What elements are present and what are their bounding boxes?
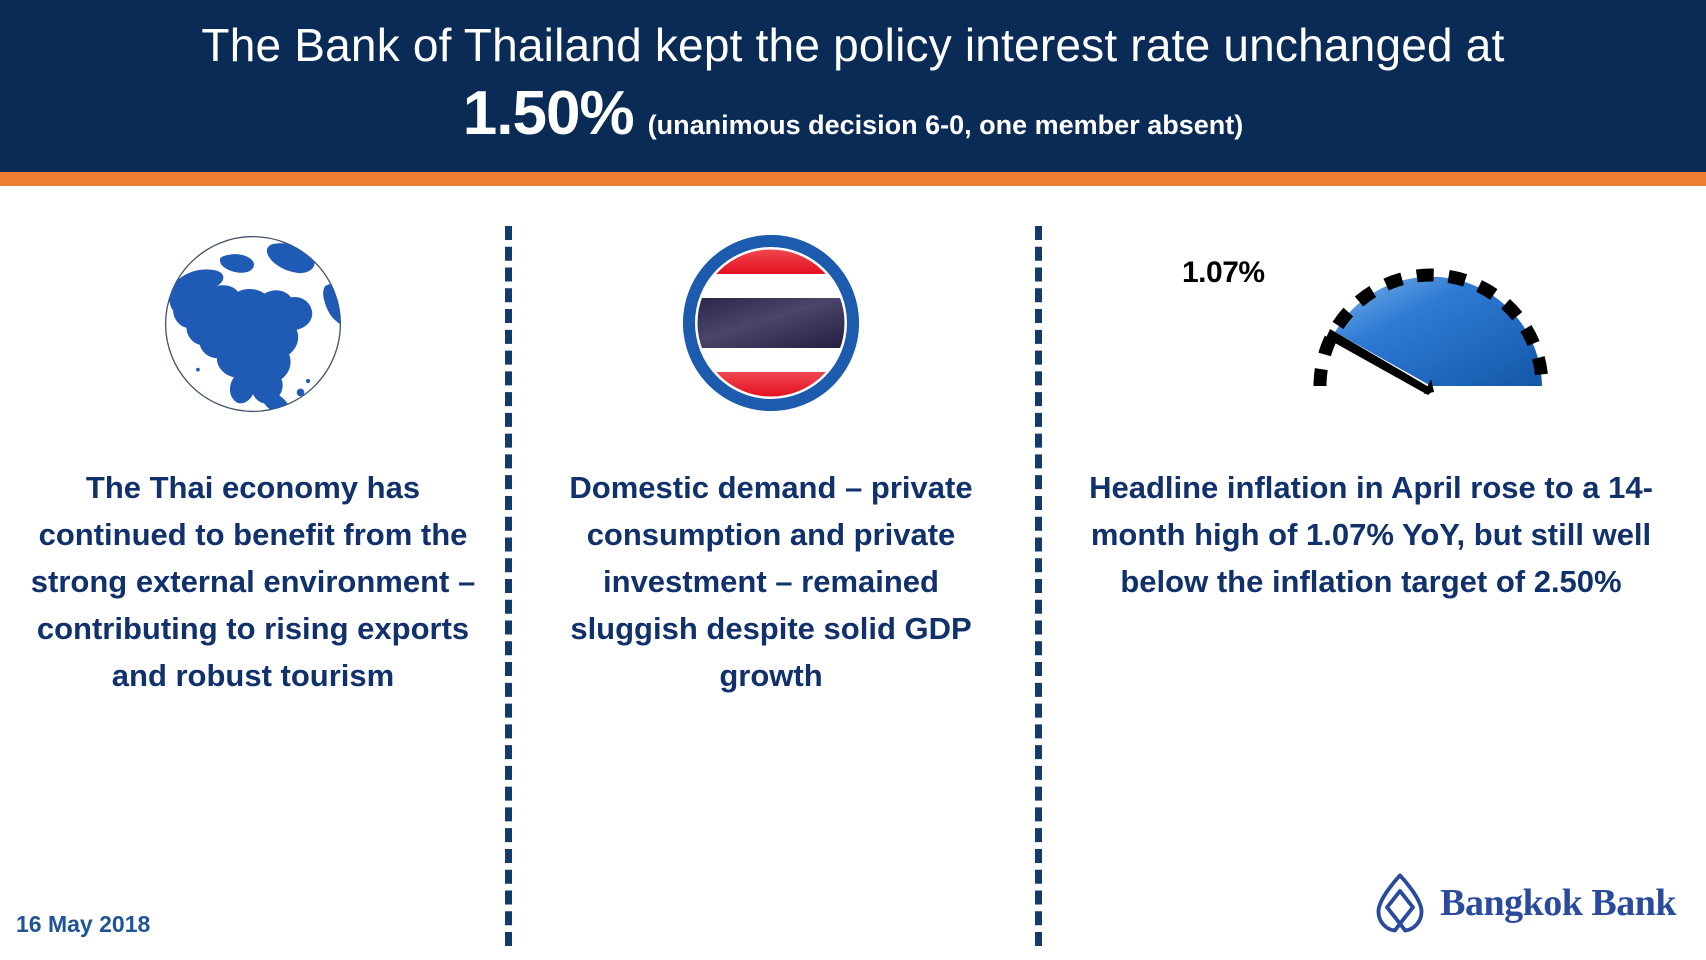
rate-line: 1.50% (unanimous decision 6-0, one membe… <box>40 78 1666 149</box>
column-2-icon-area <box>506 186 1036 456</box>
column-3-icon-area: 1.07% <box>1036 186 1706 456</box>
globe-icon <box>158 229 348 419</box>
headline-text: The Bank of Thailand kept the policy int… <box>40 18 1666 72</box>
column-3-text: Headline inflation in April rose to a 14… <box>1036 464 1706 605</box>
column-1-text: The Thai economy has continued to benefi… <box>0 464 506 700</box>
gauge-value-label: 1.07% <box>1182 256 1265 290</box>
policy-rate-note: (unanimous decision 6-0, one member abse… <box>648 110 1244 141</box>
accent-bar <box>0 172 1706 186</box>
inflation-gauge-icon: 1.07% <box>1176 234 1606 434</box>
column-external-environment: The Thai economy has continued to benefi… <box>0 186 506 960</box>
column-domestic-demand: Domestic demand – private consumption an… <box>506 186 1036 960</box>
header-banner: The Bank of Thailand kept the policy int… <box>0 0 1706 172</box>
bangkok-bank-wordmark: Bangkok Bank <box>1440 881 1676 925</box>
policy-rate-value: 1.50% <box>463 78 634 149</box>
bangkok-bank-leaf-icon <box>1374 872 1426 934</box>
column-2-text: Domestic demand – private consumption an… <box>506 464 1036 700</box>
column-1-icon-area <box>0 186 506 456</box>
thailand-flag-icon <box>671 223 871 423</box>
infographic-slide: The Bank of Thailand kept the policy int… <box>0 0 1706 960</box>
columns-container: The Thai economy has continued to benefi… <box>0 186 1706 960</box>
column-inflation: 1.07% <box>1036 186 1706 960</box>
date-stamp: 16 May 2018 <box>16 911 150 938</box>
bangkok-bank-logo: Bangkok Bank <box>1374 872 1676 934</box>
